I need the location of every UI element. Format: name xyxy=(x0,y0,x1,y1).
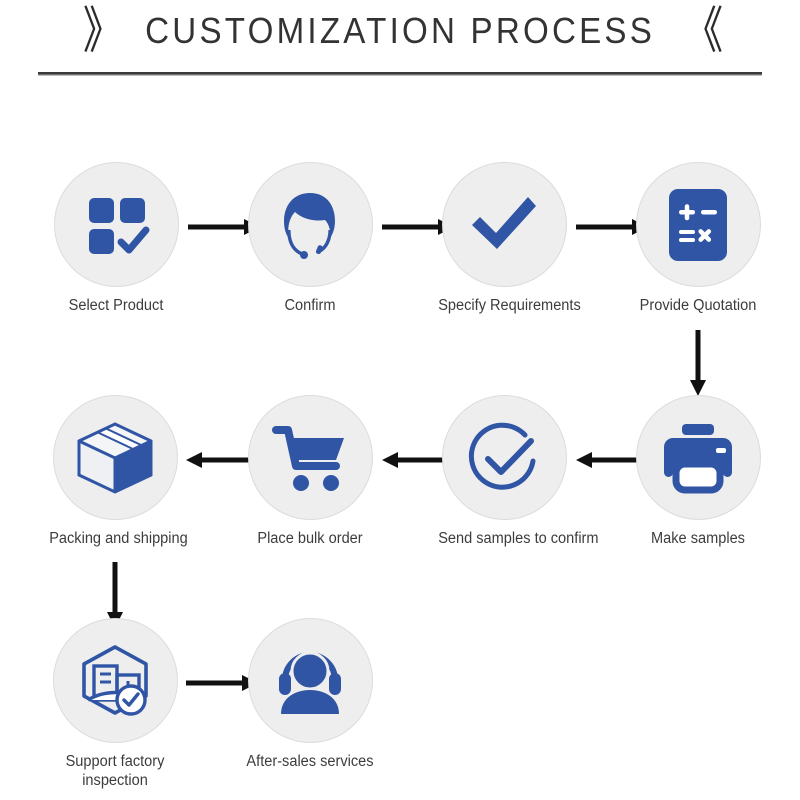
step-select-product[interactable]: Select Product xyxy=(46,162,186,315)
step-label: Send samples to confirm xyxy=(438,529,570,548)
step-label: Make samples xyxy=(632,529,764,548)
calculator-icon xyxy=(667,187,729,263)
step-icon-circle xyxy=(442,395,567,520)
checkmark-icon xyxy=(466,187,542,263)
shopping-cart-icon xyxy=(272,422,348,494)
box-icon xyxy=(76,421,154,495)
step-icon-circle xyxy=(636,395,761,520)
step-send-samples-to-confirm[interactable]: Send samples to confirm xyxy=(434,395,574,548)
step-place-bulk-order[interactable]: Place bulk order xyxy=(240,395,380,548)
step-label: Place bulk order xyxy=(244,529,376,548)
step-make-samples[interactable]: Make samples xyxy=(628,395,768,548)
step-icon-circle xyxy=(53,395,178,520)
step-label: Packing and shipping xyxy=(49,529,181,548)
step-specify-requirements[interactable]: Specify Requirements xyxy=(434,162,574,315)
chevron-right-double-icon: 》 xyxy=(83,6,117,56)
support-person-icon xyxy=(271,646,349,716)
customization-process-infographic: 》 CUSTOMIZATION PROCESS 《 Select Product xyxy=(0,0,800,800)
circle-check-icon xyxy=(465,419,543,497)
page-title: CUSTOMIZATION PROCESS xyxy=(145,10,655,52)
step-icon-circle xyxy=(54,162,179,287)
step-label: Confirm xyxy=(244,296,376,315)
step-icon-circle xyxy=(636,162,761,287)
chevron-left-double-icon: 《 xyxy=(683,6,717,56)
step-support-factory-inspection[interactable]: Support factory inspection xyxy=(45,618,185,791)
step-after-sales-services[interactable]: After-sales services xyxy=(240,618,380,771)
headset-agent-icon xyxy=(273,188,347,262)
step-label: Select Product xyxy=(50,296,182,315)
step-icon-circle xyxy=(248,395,373,520)
header-divider xyxy=(38,72,762,76)
step-provide-quotation[interactable]: Provide Quotation xyxy=(628,162,768,315)
factory-shield-icon xyxy=(76,643,154,719)
page-header: 》 CUSTOMIZATION PROCESS 《 xyxy=(0,10,800,52)
arrow-down-icon xyxy=(689,330,707,396)
printer-icon xyxy=(660,422,736,494)
step-confirm[interactable]: Confirm xyxy=(240,162,380,315)
step-icon-circle xyxy=(442,162,567,287)
step-label: Provide Quotation xyxy=(632,296,764,315)
step-label: After-sales services xyxy=(244,752,376,771)
step-label: Support factory inspection xyxy=(49,752,181,791)
step-icon-circle xyxy=(53,618,178,743)
grid-check-icon xyxy=(81,190,151,260)
step-icon-circle xyxy=(248,618,373,743)
step-icon-circle xyxy=(248,162,373,287)
step-label: Specify Requirements xyxy=(438,296,570,315)
step-packing-and-shipping[interactable]: Packing and shipping xyxy=(45,395,185,548)
